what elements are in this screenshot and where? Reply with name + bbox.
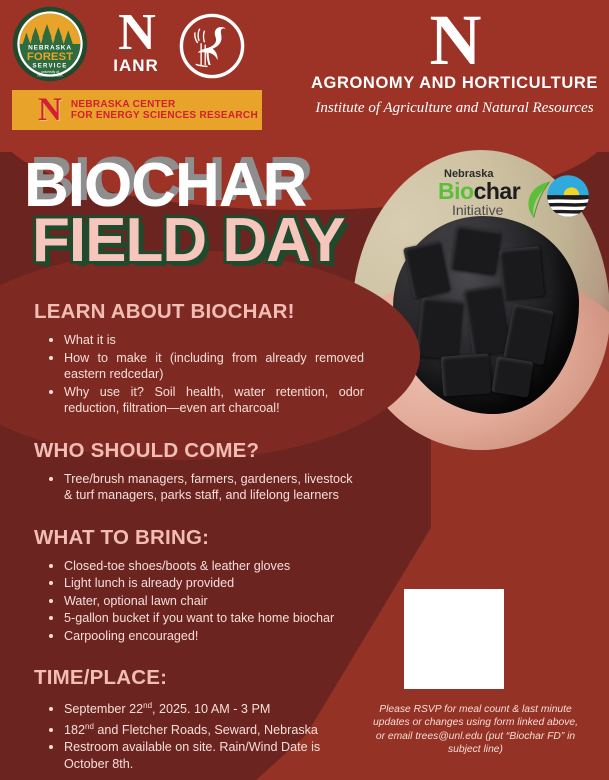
agronomy-subtitle: Institute of Agriculture and Natural Res… [300, 100, 609, 117]
list-item-date: September 22nd, 2025. 10 AM - 3 PM [64, 698, 364, 718]
nebraska-forest-service-logo: NEBRASKA FOREST SERVICE university of ne… [12, 6, 88, 82]
section-list-bring: Closed-toe shoes/boots & leather gloves … [52, 558, 364, 645]
agronomy-title: AGRONOMY AND HORTICULTURE [300, 74, 609, 93]
date-sup: nd [143, 701, 152, 710]
unl-n-mark: N [300, 2, 609, 78]
section-heading-learn: LEARN ABOUT BIOCHAR! [34, 300, 364, 324]
date-post: , 2025. 10 AM - 3 PM [152, 702, 270, 716]
list-item: How to make it (including from already r… [64, 350, 364, 383]
nfs-line3: SERVICE [32, 63, 67, 70]
list-item-restroom: Restroom available on site. Rain/Wind Da… [64, 739, 364, 772]
field-sunrise-icon [542, 174, 594, 218]
ncesr-label: NEBRASKA CENTER FOR ENERGY SCIENCES RESE… [71, 99, 258, 122]
nfs-line2: FOREST [27, 51, 73, 63]
list-item: Tree/brush managers, farmers, gardeners,… [64, 471, 364, 504]
addr-sup: nd [85, 722, 94, 731]
list-item: Closed-toe shoes/boots & leather gloves [64, 558, 364, 575]
addr-post: and Fletcher Roads, Seward, Nebraska [94, 723, 318, 737]
ianr-label: IANR [98, 58, 174, 74]
list-item: Light lunch is already provided [64, 575, 364, 592]
section-heading-bring: WHAT TO BRING: [34, 526, 364, 550]
list-item: Carpooling encouraged! [64, 628, 364, 645]
ncesr-line1: NEBRASKA CENTER [71, 99, 176, 110]
crane-icon [178, 12, 246, 80]
section-list-time: September 22nd, 2025. 10 AM - 3 PM 182nd… [52, 698, 364, 772]
section-heading-time: TIME/PLACE: [34, 666, 364, 690]
ncesr-n-mark: N [38, 93, 61, 127]
agronomy-horticulture-logo: N AGRONOMY AND HORTICULTURE Institute of… [300, 2, 609, 117]
ianr-n-mark: N [98, 8, 174, 58]
qr-code-matrix [408, 593, 500, 685]
ianr-logo: N IANR [98, 8, 174, 84]
nfs-line5: nebraska–lincoln [38, 74, 63, 78]
list-item: What it is [64, 332, 364, 349]
poster-body: LEARN ABOUT BIOCHAR! What it is How to m… [34, 300, 364, 773]
addr-pre: 182 [64, 723, 85, 737]
energy-sciences-banner: N NEBRASKA CENTER FOR ENERGY SCIENCES RE… [12, 90, 262, 130]
qr-code[interactable] [404, 589, 504, 689]
rsvp-note: Please RSVP for meal count & last minute… [368, 703, 583, 757]
ncesr-line2: FOR ENERGY SCIENCES RESEARCH [71, 110, 258, 121]
section-list-who: Tree/brush managers, farmers, gardeners,… [52, 471, 364, 504]
list-item: Why use it? Soil health, water retention… [64, 384, 364, 417]
title-line-field-day: FIELD DAY [32, 210, 444, 272]
poster-root: NEBRASKA FOREST SERVICE university of ne… [0, 0, 609, 780]
list-item: Water, optional lawn chair [64, 593, 364, 610]
bci-char: char [474, 178, 521, 204]
section-heading-who: WHO SHOULD COME? [34, 439, 364, 463]
partner-logos: NEBRASKA FOREST SERVICE university of ne… [0, 0, 609, 88]
list-item-address: 182nd and Fletcher Roads, Seward, Nebras… [64, 719, 364, 739]
nebraska-biochar-initiative-logo: Nebraska Biochar Initiative [430, 168, 580, 230]
list-item: 5-gallon bucket if you want to take home… [64, 610, 364, 627]
section-list-learn: What it is How to make it (including fro… [52, 332, 364, 417]
date-pre: September 22 [64, 702, 143, 716]
poster-title: BIOCHAR FIELD DAY [24, 158, 444, 272]
